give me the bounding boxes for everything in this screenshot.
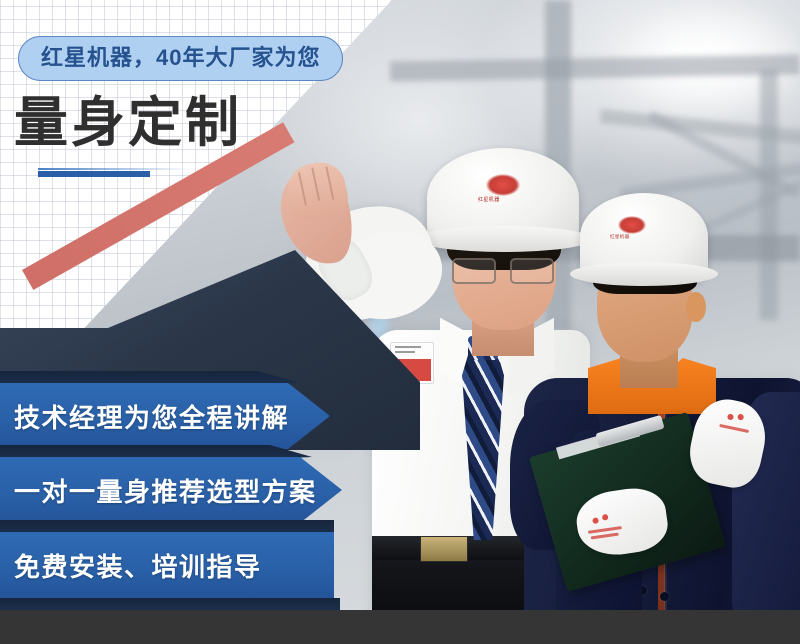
- helmet-logo-icon: [486, 174, 520, 196]
- helmet-logo-text: 红星机器: [610, 234, 630, 240]
- finger-gap: [298, 172, 307, 206]
- badge-line: [395, 351, 415, 353]
- feature-banner-3: 免费安装、培训指导: [0, 532, 334, 598]
- eyeglasses: [452, 258, 554, 280]
- tagline-pill: 红星机器，40年大厂家为您: [18, 36, 343, 81]
- hard-hat-brim: [570, 262, 718, 286]
- glove-logo-dot: [727, 413, 734, 420]
- title-underline-thin: [38, 168, 190, 170]
- feature-banner-1: 技术经理为您全程讲解: [0, 383, 330, 449]
- belt-buckle: [420, 536, 468, 562]
- title-underline-thick: [38, 171, 150, 177]
- helmet-logo-icon: [618, 216, 646, 234]
- feature-banner-2-label: 一对一量身推荐选型方案: [14, 472, 317, 509]
- ear: [686, 292, 706, 322]
- glove-logo-dot: [602, 514, 609, 521]
- hard-hat-brim: [416, 226, 592, 252]
- helmet-logo-text: 红星机器: [478, 196, 500, 203]
- finger-gap: [311, 167, 320, 201]
- feature-banner-1-label: 技术经理为您全程讲解: [14, 398, 289, 435]
- promo-banner: 红星机器: [0, 0, 800, 644]
- bottom-dark-bar: [0, 610, 800, 644]
- badge-line: [395, 346, 421, 348]
- glove-stripe: [591, 533, 619, 540]
- feature-banner-3-label: 免费安装、培训指导: [14, 547, 262, 584]
- page-title: 量身定制: [14, 96, 242, 150]
- feature-banner-2: 一对一量身推荐选型方案: [0, 457, 342, 523]
- glove-stripe: [719, 424, 749, 433]
- jacket-button: [660, 592, 669, 601]
- glove-logo-dot: [592, 517, 599, 524]
- finger-gap: [325, 166, 334, 200]
- glove-logo-dot: [737, 414, 744, 421]
